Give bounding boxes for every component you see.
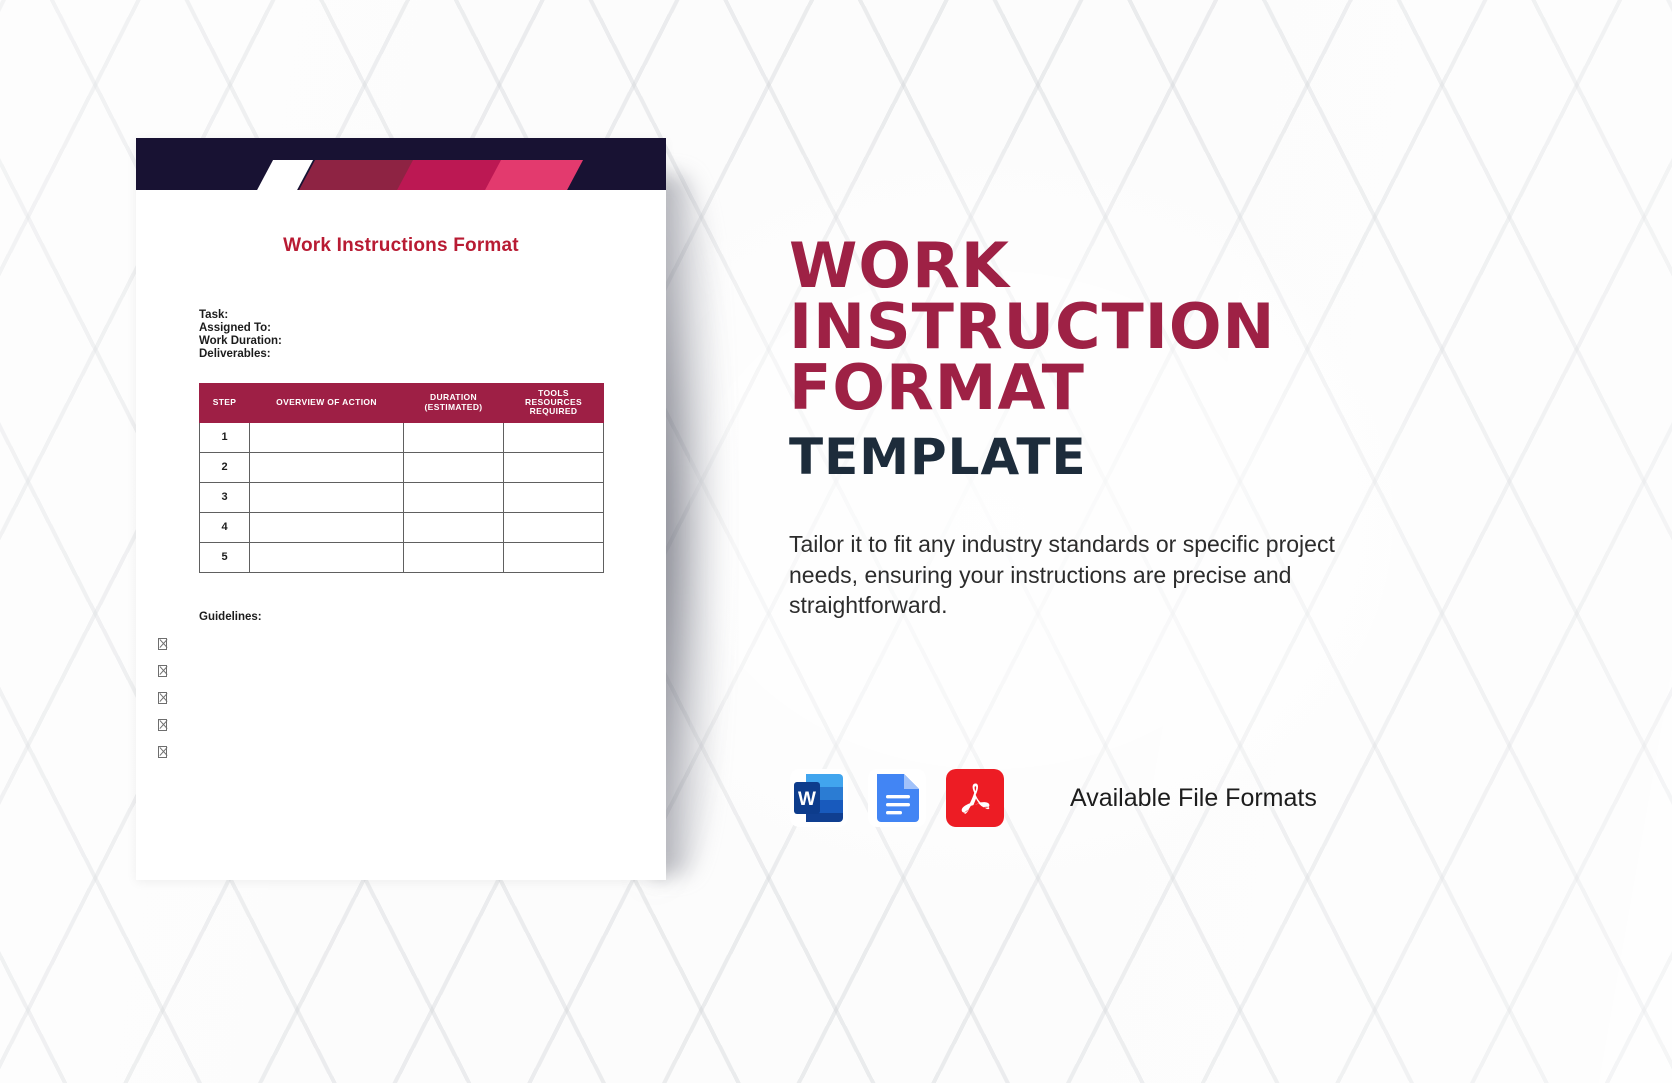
cell-duration[interactable] (404, 452, 504, 482)
table-row[interactable]: 3 (200, 482, 604, 512)
table-row[interactable]: 4 (200, 512, 604, 542)
promo-subtitle: TEMPLATE (789, 432, 1449, 482)
missing-glyph-icon (158, 746, 167, 758)
cell-tools[interactable] (504, 482, 604, 512)
promo-description: Tailor it to fit any industry standards … (789, 529, 1409, 620)
missing-glyph-icon (158, 665, 167, 677)
steps-table-wrapper: STEP OVERVIEW OF ACTION DURATION (ESTIMA… (199, 383, 666, 573)
steps-table: STEP OVERVIEW OF ACTION DURATION (ESTIMA… (199, 383, 604, 573)
missing-glyph-icon (158, 692, 167, 704)
column-header-overview-line1: OVERVIEW OF ACTION (276, 397, 377, 407)
available-file-formats-label: Available File Formats (1070, 784, 1317, 813)
table-header-row: STEP OVERVIEW OF ACTION DURATION (ESTIMA… (200, 383, 604, 422)
table-row[interactable]: 2 (200, 452, 604, 482)
promo-title: WORK INSTRUCTION FORMAT (789, 236, 1449, 418)
cell-overview[interactable] (250, 482, 404, 512)
field-assigned-to: Assigned To: (199, 322, 666, 335)
banner-accent-bar-1 (297, 160, 415, 190)
cell-step: 2 (200, 452, 250, 482)
guidelines-label: Guidelines: (199, 611, 666, 623)
column-header-duration: DURATION (ESTIMATED) (404, 383, 504, 422)
document-field-list: Task: Assigned To: Work Duration: Delive… (199, 309, 666, 361)
cell-step: 5 (200, 542, 250, 572)
pdf-icon[interactable] (946, 769, 1004, 827)
field-task: Task: (199, 309, 666, 322)
cell-overview[interactable] (250, 452, 404, 482)
missing-glyph-icon (158, 638, 167, 650)
list-item[interactable] (158, 637, 666, 664)
field-work-duration: Work Duration: (199, 335, 666, 348)
cell-overview[interactable] (250, 422, 404, 452)
available-file-formats: W Available File Formats (790, 769, 1317, 827)
field-deliverables: Deliverables: (199, 348, 666, 361)
column-header-tools: TOOLS RESOURCES REQUIRED (504, 383, 604, 422)
google-docs-icon[interactable] (868, 769, 926, 827)
cell-step: 4 (200, 512, 250, 542)
cell-overview[interactable] (250, 512, 404, 542)
promo-title-line-3: FORMAT (789, 358, 1449, 419)
list-item[interactable] (158, 691, 666, 718)
table-row[interactable]: 1 (200, 422, 604, 452)
cell-duration[interactable] (404, 482, 504, 512)
screenshot-stage: Work Instructions Format Task: Assigned … (0, 0, 1672, 1083)
cell-duration[interactable] (404, 422, 504, 452)
list-item[interactable] (158, 664, 666, 691)
ms-word-icon[interactable]: W (790, 769, 848, 827)
cell-tools[interactable] (504, 452, 604, 482)
cell-tools[interactable] (504, 512, 604, 542)
column-header-overview: OVERVIEW OF ACTION (250, 383, 404, 422)
cell-duration[interactable] (404, 512, 504, 542)
promo-panel: WORK INSTRUCTION FORMAT TEMPLATE Tailor … (789, 236, 1449, 620)
promo-title-line-2: INSTRUCTION (789, 297, 1449, 358)
list-item[interactable] (158, 718, 666, 745)
column-header-duration-line2: (ESTIMATED) (425, 402, 483, 412)
cell-tools[interactable] (504, 422, 604, 452)
svg-text:W: W (798, 789, 816, 810)
table-row[interactable]: 5 (200, 542, 604, 572)
cell-tools[interactable] (504, 542, 604, 572)
guidelines-list (158, 637, 666, 772)
document-header-banner (136, 138, 666, 190)
promo-title-line-1: WORK (789, 236, 1449, 297)
banner-accent-bar-3 (483, 160, 583, 190)
cell-step: 3 (200, 482, 250, 512)
cell-step: 1 (200, 422, 250, 452)
document-title: Work Instructions Format (136, 235, 666, 257)
column-header-step-line1: STEP (213, 397, 237, 407)
document-preview[interactable]: Work Instructions Format Task: Assigned … (136, 138, 666, 880)
missing-glyph-icon (158, 719, 167, 731)
cell-overview[interactable] (250, 542, 404, 572)
column-header-tools-line3: REQUIRED (530, 406, 578, 416)
cell-duration[interactable] (404, 542, 504, 572)
list-item[interactable] (158, 745, 666, 772)
column-header-step: STEP (200, 383, 250, 422)
